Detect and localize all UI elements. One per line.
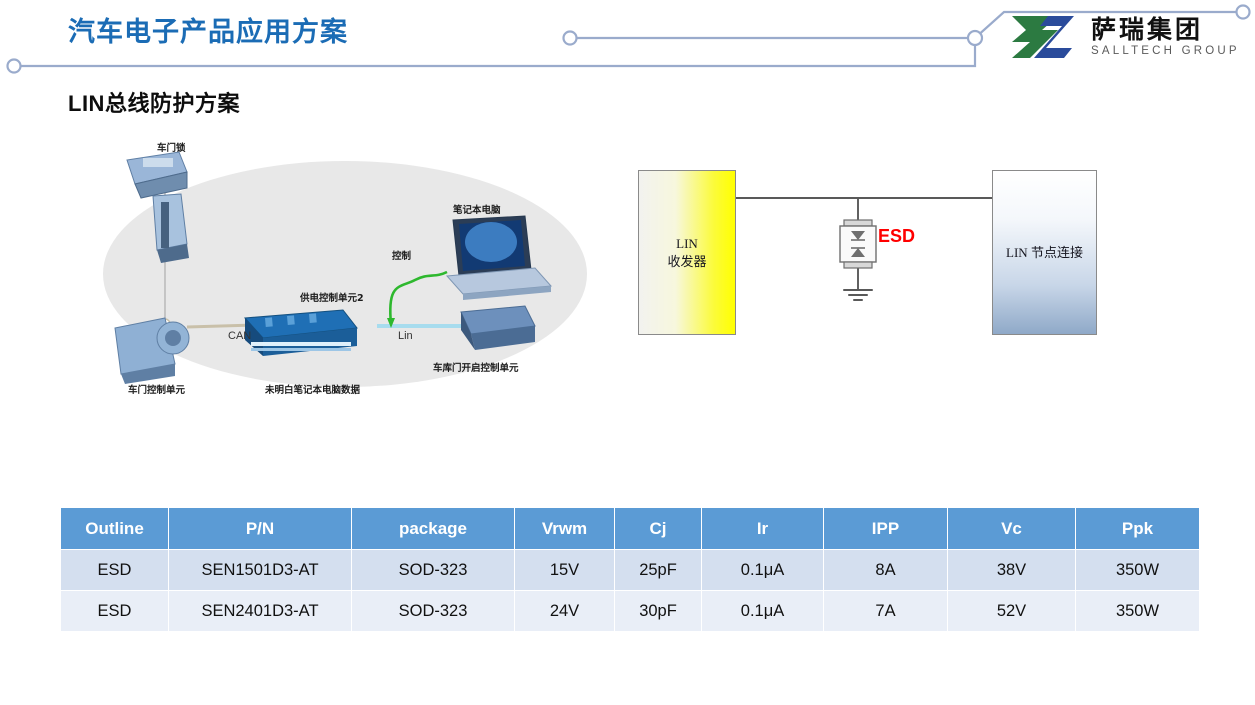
cell-cj: 30pF (615, 591, 702, 632)
column-header-outline: Outline (61, 508, 169, 550)
page-title: 汽车电子产品应用方案 (68, 10, 348, 49)
brand-name-en: SALLTECH GROUP (1091, 46, 1240, 58)
cell-vc: 38V (948, 550, 1076, 591)
illustration-label-door-control-unit: 车门控制单元 (128, 382, 185, 396)
table-header-row: Outline P/N package Vrwm Cj Ir IPP Vc Pp… (61, 508, 1200, 550)
circuit-node-icon-joint (968, 31, 982, 45)
garage-door-control-unit-icon (461, 306, 535, 350)
cell-vrwm: 24V (515, 591, 615, 632)
column-header-ppk: Ppk (1076, 508, 1200, 550)
circuit-node-icon-left (8, 60, 21, 73)
illustration-label-can: CAN (228, 330, 251, 342)
esd-tvs-diode-symbol-icon (840, 220, 876, 268)
column-header-pn: P/N (169, 508, 352, 550)
cell-outline: ESD (61, 591, 169, 632)
brand-logo: 萨瑞集团 SALLTECH GROUP (1008, 14, 1240, 60)
lin-protection-block-diagram: LIN 收发器 LIN 节点连接 (620, 150, 1140, 365)
cell-ipp: 7A (824, 591, 948, 632)
cell-ppk: 350W (1076, 550, 1200, 591)
column-header-vc: Vc (948, 508, 1076, 550)
spec-table: Outline P/N package Vrwm Cj Ir IPP Vc Pp… (60, 508, 1200, 632)
illustration-label-garage-control-unit: 车库门开启控制单元 (433, 360, 519, 374)
column-header-ipp: IPP (824, 508, 948, 550)
section-title: LIN总线防护方案 (68, 86, 240, 118)
table-row: ESD SEN2401D3-AT SOD-323 24V 30pF 0.1μA … (61, 591, 1200, 632)
cell-ir: 0.1μA (702, 550, 824, 591)
cell-vc: 52V (948, 591, 1076, 632)
cell-ipp: 8A (824, 550, 948, 591)
cell-cj: 25pF (615, 550, 702, 591)
illustration-label-laptop: 笔记本电脑 (453, 202, 501, 216)
illustration-label-lin: Lin (398, 330, 413, 342)
cell-outline: ESD (61, 550, 169, 591)
network-illustration: 车门锁 车门控制单元 CAN 供电控制单元2 未明白笔记本电脑数据 控制 Lin… (95, 132, 595, 407)
brand-name-cn: 萨瑞集团 (1091, 17, 1240, 42)
cell-ppk: 350W (1076, 591, 1200, 632)
column-header-vrwm: Vrwm (515, 508, 615, 550)
cell-pn: SEN2401D3-AT (169, 591, 352, 632)
power-control-unit-icon (245, 310, 357, 356)
column-header-package: package (352, 508, 515, 550)
door-lock-device-icon (127, 152, 187, 198)
cell-pn: SEN1501D3-AT (169, 550, 352, 591)
table-row: ESD SEN1501D3-AT SOD-323 15V 25pF 0.1μA … (61, 550, 1200, 591)
illustration-label-control: 控制 (392, 248, 411, 262)
salltech-logo-mark-icon (1008, 14, 1084, 60)
cell-package: SOD-323 (352, 550, 515, 591)
brand-text: 萨瑞集团 SALLTECH GROUP (1091, 17, 1240, 58)
illustration-label-door-lock: 车门锁 (157, 140, 186, 154)
illustration-label-laptop-data: 未明白笔记本电脑数据 (265, 382, 360, 396)
ground-symbol-icon (844, 290, 872, 300)
column-header-cj: Cj (615, 508, 702, 550)
cell-package: SOD-323 (352, 591, 515, 632)
circuit-node-icon-mid (564, 32, 577, 45)
slide-canvas: 汽车电子产品应用方案 LIN总线防护方案 萨瑞集团 SALLTECH GROUP (0, 0, 1255, 705)
cell-vrwm: 15V (515, 550, 615, 591)
door-control-unit-icon (115, 318, 189, 384)
block-diagram-wiring (620, 150, 1140, 365)
network-illustration-graphic (95, 132, 595, 407)
column-header-ir: Ir (702, 508, 824, 550)
cell-ir: 0.1μA (702, 591, 824, 632)
illustration-label-power-control-unit: 供电控制单元2 (300, 290, 364, 304)
esd-label: ESD (878, 226, 915, 247)
